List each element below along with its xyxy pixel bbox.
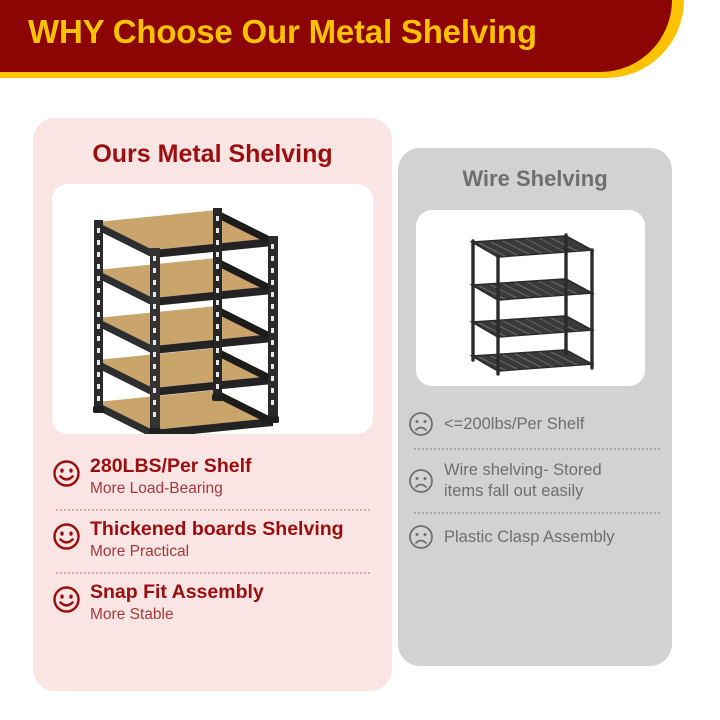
competitor-feature-text: Wire shelving- Stored items fall out eas…	[444, 460, 644, 501]
divider	[414, 448, 660, 450]
competitor-feature-list: <=200lbs/Per Shelf Wire shelving- Stored…	[408, 403, 666, 559]
ours-feature-title: Thickened boards Shelving	[90, 519, 344, 541]
competitor-panel: Wire Shelving	[398, 148, 672, 666]
divider	[414, 512, 660, 514]
competitor-feature-text: <=200lbs/Per Shelf	[444, 414, 584, 435]
header-banner: WHY Choose Our Metal Shelving	[0, 0, 672, 72]
divider	[56, 509, 370, 511]
ours-feature-title: Snap Fit Assembly	[90, 582, 264, 604]
divider	[56, 572, 370, 574]
metal-shelving-photo-card	[52, 184, 373, 434]
metal-shelving-image	[52, 184, 373, 434]
infographic-root: WHY Choose Our Metal Shelving Wire Shelv…	[0, 0, 720, 720]
sad-face-icon	[408, 524, 434, 550]
ours-panel-title: Ours Metal Shelving	[33, 140, 392, 169]
ours-feature-subtitle: More Stable	[90, 605, 264, 625]
smiley-face-icon	[52, 522, 81, 551]
competitor-feature-text: Plastic Clasp Assembly	[444, 527, 615, 548]
ours-panel: Ours Metal Shelving	[33, 118, 392, 691]
ours-feature-list: 280LBS/Per Shelf More Load-Bearing Thick…	[52, 450, 374, 633]
competitor-feature-item: Plastic Clasp Assembly	[408, 516, 666, 559]
ours-feature-subtitle: More Load-Bearing	[90, 479, 251, 499]
sad-face-icon	[408, 468, 434, 494]
competitor-feature-item: Wire shelving- Stored items fall out eas…	[408, 452, 666, 510]
sad-face-icon	[408, 411, 434, 437]
ours-feature-item: Thickened boards Shelving More Practical	[52, 513, 374, 570]
ours-feature-subtitle: More Practical	[90, 542, 344, 562]
page-title: WHY Choose Our Metal Shelving	[28, 13, 537, 51]
competitor-panel-title: Wire Shelving	[398, 166, 672, 192]
smiley-face-icon	[52, 459, 81, 488]
wire-shelving-photo-card	[416, 210, 645, 386]
smiley-face-icon	[52, 585, 81, 614]
ours-feature-item: Snap Fit Assembly More Stable	[52, 576, 374, 633]
competitor-feature-item: <=200lbs/Per Shelf	[408, 403, 666, 446]
wire-shelving-image	[416, 210, 645, 386]
ours-feature-title: 280LBS/Per Shelf	[90, 456, 251, 478]
ours-feature-item: 280LBS/Per Shelf More Load-Bearing	[52, 450, 374, 507]
